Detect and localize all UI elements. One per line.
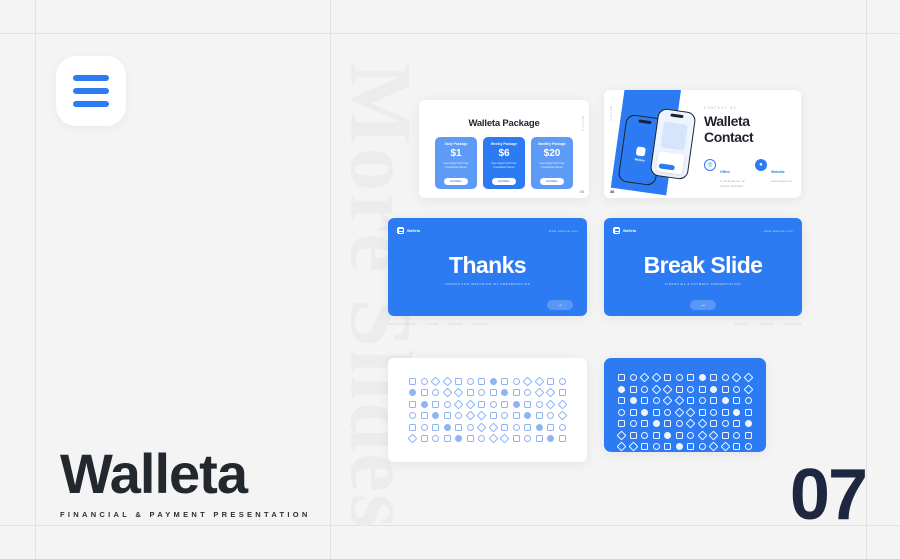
grid-icon[interactable] [664, 443, 671, 450]
guide-line-horizontal-bottom [0, 525, 900, 526]
grid-icon[interactable] [557, 399, 567, 409]
logo-bar-2 [73, 88, 109, 94]
grid-icon[interactable] [431, 376, 441, 386]
logo-bar-3 [73, 101, 109, 107]
contact-eyebrow: CONTACT US [704, 106, 793, 110]
grid-icon[interactable] [421, 389, 428, 396]
grid-icon[interactable] [513, 435, 520, 442]
brand-block: Walleta FINANCIAL & PAYMENT PRESENTATION [60, 446, 311, 519]
grid-icon[interactable] [559, 435, 566, 442]
grid-icon[interactable] [501, 412, 508, 419]
grid-icon[interactable] [640, 373, 650, 383]
grid-icon[interactable] [722, 420, 729, 427]
grid-icon[interactable] [745, 420, 752, 427]
phone-notch [670, 113, 683, 118]
phone-app-logo [636, 147, 646, 157]
thanks-header: Walleta www.walleta.com [397, 227, 578, 234]
grid-icon[interactable] [523, 376, 533, 386]
grid-icon[interactable] [618, 374, 625, 381]
grid-icon[interactable] [557, 411, 567, 421]
grid-icon[interactable] [536, 412, 543, 419]
slide-thumbnail-break[interactable]: Walleta www.walleta.com Break Slide FINA… [604, 218, 802, 316]
grid-icon[interactable] [628, 442, 638, 452]
grid-icon[interactable] [524, 401, 531, 408]
grid-icon[interactable] [501, 401, 508, 408]
grid-icon[interactable] [454, 399, 464, 409]
thanks-footer-item: PRESENTATION [388, 322, 416, 326]
grid-icon[interactable] [455, 412, 462, 419]
grid-icon[interactable] [745, 443, 752, 450]
package-card-list: Daily Package $1 Free Support 24/7 Free … [435, 137, 573, 189]
hamburger-logo-icon [613, 227, 620, 234]
grid-icon[interactable] [710, 386, 717, 393]
grid-icon[interactable] [546, 388, 556, 398]
grid-icon[interactable] [641, 443, 648, 450]
grid-icon[interactable] [733, 397, 740, 404]
icon-grid-row [618, 432, 752, 439]
grid-icon[interactable] [745, 397, 752, 404]
grid-icon[interactable] [421, 435, 428, 442]
grid-icon[interactable] [488, 422, 498, 432]
grid-icon[interactable] [617, 430, 627, 440]
grid-icon[interactable] [686, 407, 696, 417]
grid-icon[interactable] [408, 434, 418, 444]
grid-icon[interactable] [674, 396, 684, 406]
grid-icon[interactable] [676, 420, 683, 427]
grid-icon[interactable] [477, 422, 487, 432]
grid-icon[interactable] [630, 386, 637, 393]
grid-icon[interactable] [733, 443, 740, 450]
package-card-features: Free Support 24/7 Free Consultation Secu… [534, 162, 570, 170]
icon-grid-row [409, 401, 566, 408]
grid-icon[interactable] [409, 424, 416, 431]
grid-icon[interactable] [676, 443, 683, 450]
grid-icon[interactable] [722, 374, 729, 381]
grid-icon[interactable] [618, 397, 625, 404]
grid-icon[interactable] [641, 397, 648, 404]
package-card[interactable]: Weekly Package $6 Free Support 24/7 Free… [483, 137, 525, 189]
grid-icon[interactable] [478, 378, 485, 385]
package-card-button[interactable]: Get More [492, 178, 515, 185]
thanks-footer-item: SLIDES [426, 322, 439, 326]
break-brand: Walleta [613, 227, 636, 234]
grid-icon[interactable] [710, 409, 717, 416]
grid-icon[interactable] [421, 378, 428, 385]
thanks-subtitle: THANKS FOR WATCHING MY PRESENTATION [388, 282, 587, 286]
break-header: Walleta www.walleta.com [613, 227, 793, 234]
icon-grid-row [618, 386, 752, 393]
grid-icon[interactable] [501, 378, 508, 385]
thanks-brand: Walleta [397, 227, 420, 234]
grid-icon[interactable] [697, 419, 707, 429]
break-next-arrow-button[interactable]: → [690, 300, 716, 310]
grid-icon[interactable] [630, 409, 637, 416]
package-card-label: Daily Package [445, 142, 468, 146]
grid-icon[interactable] [513, 389, 520, 396]
grid-icon[interactable] [676, 374, 683, 381]
grid-icon[interactable] [547, 378, 554, 385]
grid-icon[interactable] [699, 443, 706, 450]
grid-icon[interactable] [547, 424, 554, 431]
grid-icon[interactable] [687, 397, 694, 404]
page-number: 07 [790, 459, 866, 531]
grid-icon[interactable] [699, 386, 706, 393]
package-card-button[interactable]: Get More [444, 178, 467, 185]
grid-icon[interactable] [409, 378, 416, 385]
grid-icon[interactable] [630, 432, 637, 439]
guide-line-horizontal-top [0, 33, 900, 34]
grid-icon[interactable] [536, 435, 543, 442]
icon-grid-blue [604, 358, 766, 452]
package-card[interactable]: Monthly Package $20 Free Support 24/7 Fr… [531, 137, 573, 189]
grid-icon[interactable] [641, 432, 648, 439]
logo-bar-1 [73, 75, 109, 81]
grid-icon[interactable] [442, 388, 452, 398]
icon-grid-row [618, 443, 752, 450]
grid-icon[interactable] [409, 389, 416, 396]
package-card-label: Weekly Package [491, 142, 517, 146]
grid-icon[interactable] [513, 378, 520, 385]
grid-icon[interactable] [421, 424, 428, 431]
grid-icon[interactable] [467, 424, 474, 431]
grid-icon[interactable] [618, 420, 625, 427]
grid-icon[interactable] [478, 401, 485, 408]
grid-icon[interactable] [534, 376, 544, 386]
grid-icon[interactable] [733, 420, 740, 427]
grid-icon[interactable] [733, 409, 740, 416]
grid-icon[interactable] [559, 378, 566, 385]
break-url: www.walleta.com [764, 229, 793, 233]
grid-icon[interactable] [676, 432, 683, 439]
thanks-url: www.walleta.com [549, 229, 578, 233]
grid-icon[interactable] [733, 386, 740, 393]
brand-name: Walleta [60, 446, 311, 502]
icon-grid-row [409, 389, 566, 396]
grid-icon[interactable] [745, 432, 752, 439]
grid-icon[interactable] [664, 374, 671, 381]
slide-thumbnail-icon-pack-light[interactable] [388, 358, 587, 462]
grid-icon[interactable] [444, 401, 451, 408]
contact-item-value: Jl. Sudirman No. 12 Jakarta, Indonesia [720, 179, 747, 188]
grid-icon[interactable] [467, 389, 474, 396]
package-card-label: Monthly Package [538, 142, 566, 146]
thanks-center: Thanks THANKS FOR WATCHING MY PRESENTATI… [388, 254, 587, 286]
grid-icon[interactable] [455, 435, 462, 442]
grid-icon[interactable] [618, 409, 625, 416]
grid-icon[interactable] [699, 409, 706, 416]
grid-icon[interactable] [709, 442, 719, 452]
grid-icon[interactable] [687, 432, 694, 439]
icon-grid-row [618, 409, 752, 416]
grid-icon[interactable] [559, 389, 566, 396]
grid-icon[interactable] [409, 401, 416, 408]
grid-icon[interactable] [444, 435, 451, 442]
grid-icon[interactable] [617, 442, 627, 452]
grid-icon[interactable] [722, 409, 729, 416]
grid-icon[interactable] [432, 389, 439, 396]
grid-icon[interactable] [432, 412, 439, 419]
thanks-brand-name: Walleta [407, 229, 420, 233]
phone-chart-area [660, 122, 687, 151]
slide-thumbnail-contact[interactable]: Walleta Walleta CONTACT US Walleta Conta… [604, 90, 801, 198]
contact-item-grid: ◎ Office Jl. Sudirman No. 12 Jakarta, In… [704, 159, 793, 198]
grid-icon[interactable] [501, 389, 508, 396]
break-footer-item: WALLETA [786, 322, 802, 326]
grid-icon[interactable] [664, 420, 671, 427]
grid-icon[interactable] [687, 386, 694, 393]
icon-grid-row [409, 378, 566, 385]
grid-icon[interactable] [630, 397, 637, 404]
grid-icon[interactable] [641, 420, 648, 427]
grid-icon[interactable] [490, 378, 497, 385]
contact-item[interactable]: ◎ Office Jl. Sudirman No. 12 Jakarta, In… [704, 159, 747, 188]
grid-icon[interactable] [699, 397, 706, 404]
grid-icon[interactable] [686, 419, 696, 429]
grid-icon[interactable] [674, 407, 684, 417]
grid-icon[interactable] [676, 386, 683, 393]
grid-icon[interactable] [421, 401, 428, 408]
package-card-features: Free Support 24/7 Free Consultation Secu… [438, 162, 474, 170]
contact-item-label: Website [771, 170, 785, 174]
grid-icon[interactable] [743, 384, 753, 394]
break-subtitle: FINANCIAL & PAYMENT PRESENTATION [604, 282, 802, 286]
grid-icon[interactable] [490, 389, 497, 396]
grid-icon[interactable] [653, 420, 660, 427]
package-side-label: Walleta [581, 116, 585, 132]
package-title: Walleta Package [419, 118, 589, 129]
grid-icon[interactable] [536, 424, 543, 431]
grid-icon[interactable] [732, 373, 742, 383]
icon-grid-row [618, 420, 752, 427]
icon-grid-row [409, 424, 566, 431]
globe-icon: ◎ [704, 159, 716, 171]
grid-icon[interactable] [534, 388, 544, 398]
grid-icon[interactable] [687, 443, 694, 450]
grid-icon[interactable] [630, 420, 637, 427]
grid-icon[interactable] [547, 412, 554, 419]
thanks-title: Thanks [388, 254, 587, 277]
grid-icon[interactable] [547, 435, 554, 442]
package-card-price: $1 [450, 149, 461, 159]
grid-icon[interactable] [653, 443, 660, 450]
package-card-price: $20 [544, 149, 561, 159]
package-slide-number: 35 [580, 189, 584, 194]
grid-icon[interactable] [488, 434, 498, 444]
grid-icon[interactable] [432, 435, 439, 442]
grid-icon[interactable] [664, 432, 671, 439]
icon-grid-row [409, 412, 566, 419]
thanks-footer-item: WALLETA [473, 322, 489, 326]
guide-line-vertical-right [866, 0, 867, 559]
grid-icon[interactable] [653, 409, 660, 416]
contact-item-label: Office [720, 170, 730, 174]
grid-icon[interactable] [421, 412, 428, 419]
grid-icon[interactable] [513, 412, 520, 419]
grid-icon[interactable] [536, 401, 543, 408]
grid-icon[interactable] [465, 399, 475, 409]
grid-icon[interactable] [465, 411, 475, 421]
grid-icon[interactable] [641, 409, 648, 416]
break-footer-item: DESIGN [760, 322, 774, 326]
grid-icon[interactable] [722, 386, 729, 393]
grid-icon[interactable] [524, 412, 531, 419]
contact-slide-number: 36 [610, 189, 614, 194]
grid-icon[interactable] [432, 401, 439, 408]
hamburger-logo-mark [56, 56, 126, 126]
grid-icon[interactable] [653, 432, 660, 439]
grid-icon[interactable] [653, 397, 660, 404]
contact-side-label: Walleta [609, 106, 613, 122]
grid-icon[interactable] [710, 397, 717, 404]
grid-icon[interactable] [513, 401, 520, 408]
grid-icon[interactable] [490, 412, 497, 419]
grid-icon[interactable] [546, 399, 556, 409]
grid-icon[interactable] [720, 442, 730, 452]
grid-icon[interactable] [710, 420, 717, 427]
thanks-next-arrow-button[interactable]: → [547, 300, 573, 310]
contact-item[interactable]: ● Website www.walleta.com [755, 159, 793, 188]
grid-icon[interactable] [477, 411, 487, 421]
package-card-features: Free Support 24/7 Free Consultation Secu… [486, 162, 522, 170]
grid-icon[interactable] [454, 388, 464, 398]
contact-title: Walleta Contact [704, 113, 793, 145]
grid-icon[interactable] [455, 378, 462, 385]
break-brand-name: Walleta [623, 229, 636, 233]
grid-icon[interactable] [641, 386, 648, 393]
grid-icon[interactable] [467, 378, 474, 385]
phone-mockup-back [649, 108, 696, 181]
grid-icon[interactable] [524, 424, 531, 431]
brand-tagline: FINANCIAL & PAYMENT PRESENTATION [60, 510, 311, 519]
grid-icon[interactable] [687, 374, 694, 381]
package-card-button[interactable]: Get More [540, 178, 563, 185]
grid-icon[interactable] [501, 424, 508, 431]
grid-icon[interactable] [513, 424, 520, 431]
slide-thumbnail-thanks[interactable]: Walleta www.walleta.com Thanks THANKS FO… [388, 218, 587, 316]
grid-icon[interactable] [524, 389, 531, 396]
person-icon: ● [755, 159, 767, 171]
grid-icon[interactable] [442, 376, 452, 386]
thanks-footer: PRESENTATION SLIDES DESIGN WALLETA [388, 322, 587, 326]
grid-icon[interactable] [444, 424, 451, 431]
grid-icon[interactable] [630, 374, 637, 381]
icon-grid-light [388, 358, 587, 462]
grid-icon[interactable] [743, 373, 753, 383]
guide-line-vertical-left [35, 0, 36, 559]
grid-icon[interactable] [432, 424, 439, 431]
grid-icon[interactable] [478, 435, 485, 442]
grid-icon[interactable] [409, 412, 416, 419]
slide-thumbnail-package[interactable]: Walleta Package Walleta Daily Package $1… [419, 100, 589, 198]
grid-icon[interactable] [745, 409, 752, 416]
grid-icon[interactable] [709, 430, 719, 440]
grid-icon[interactable] [663, 396, 673, 406]
grid-icon[interactable] [722, 432, 729, 439]
grid-icon[interactable] [618, 386, 625, 393]
grid-icon[interactable] [478, 389, 485, 396]
icon-grid-row [409, 435, 566, 442]
hamburger-logo-icon [397, 227, 404, 234]
grid-icon[interactable] [467, 435, 474, 442]
grid-icon[interactable] [699, 374, 706, 381]
phone-notch [638, 119, 651, 124]
grid-icon[interactable] [490, 401, 497, 408]
presentation-preview-page: More Slides Walleta FINANCIAL & PAYMENT … [0, 0, 900, 559]
icon-grid-row [618, 397, 752, 404]
grid-icon[interactable] [455, 424, 462, 431]
grid-icon[interactable] [559, 424, 566, 431]
grid-icon[interactable] [651, 384, 661, 394]
grid-icon[interactable] [733, 432, 740, 439]
icon-grid-row [618, 374, 752, 381]
grid-icon[interactable] [710, 374, 717, 381]
grid-icon[interactable] [722, 397, 729, 404]
contact-content: CONTACT US Walleta Contact ◎ Office Jl. … [704, 106, 793, 198]
break-center: Break Slide FINANCIAL & PAYMENT PRESENTA… [604, 254, 802, 286]
grid-icon[interactable] [663, 384, 673, 394]
break-title: Break Slide [604, 254, 802, 277]
grid-icon[interactable] [500, 434, 510, 444]
package-card[interactable]: Daily Package $1 Free Support 24/7 Free … [435, 137, 477, 189]
grid-icon[interactable] [444, 412, 451, 419]
grid-icon[interactable] [524, 435, 531, 442]
break-footer: SLIDES DESIGN WALLETA [604, 322, 802, 326]
slide-thumbnail-icon-pack-blue[interactable] [604, 358, 766, 452]
package-card-price: $6 [498, 149, 509, 159]
grid-icon[interactable] [651, 373, 661, 383]
contact-item-value: www.walleta.com [771, 179, 792, 184]
thanks-footer-item: DESIGN [449, 322, 463, 326]
grid-icon[interactable] [697, 430, 707, 440]
grid-icon[interactable] [664, 409, 671, 416]
break-footer-item: SLIDES [735, 322, 748, 326]
